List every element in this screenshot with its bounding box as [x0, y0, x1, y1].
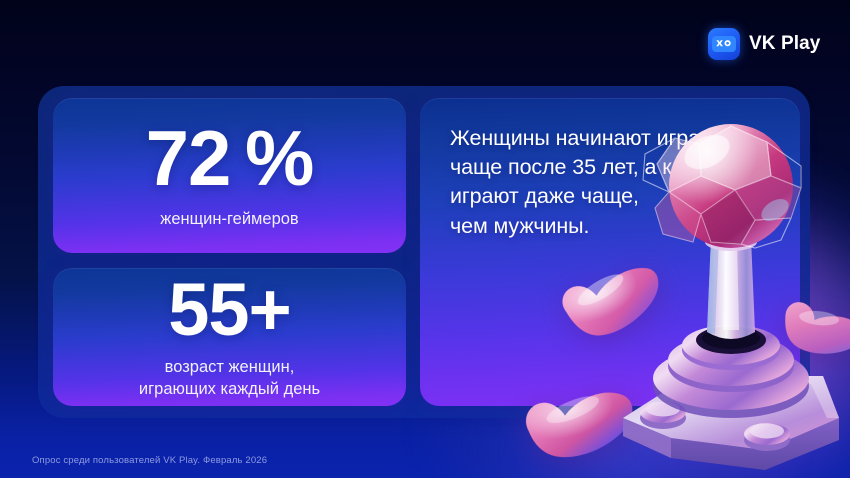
- insight-text: Женщины начинают играть чаще после 35 ле…: [450, 124, 782, 241]
- stat-card-percentage: 72 % женщин-геймеров: [53, 98, 406, 253]
- vk-play-wordmark: VK Play: [749, 33, 820, 55]
- stat-caption-daily-players: возраст женщин, играющих каждый день: [139, 357, 320, 399]
- infographic-canvas: VK Play 72 % женщин-геймеров 55+ возраст…: [0, 0, 850, 478]
- stat-caption-line-2: играющих каждый день: [139, 379, 320, 400]
- insight-card: Женщины начинают играть чаще после 35 ле…: [420, 98, 800, 406]
- vkplay-xo-icon: [708, 28, 740, 60]
- stat-value-72-percent: 72 %: [146, 121, 314, 196]
- stat-caption-line-1: возраст женщин,: [139, 357, 320, 378]
- stat-caption-women-gamers: женщин-геймеров: [160, 209, 298, 230]
- stat-card-age: 55+ возраст женщин, играющих каждый день: [53, 268, 406, 406]
- stat-value-55-plus: 55+: [168, 274, 291, 345]
- vk-play-logo[interactable]: VK Play: [708, 28, 820, 60]
- source-note: Опрос среди пользователей VK Play. Февра…: [32, 455, 267, 466]
